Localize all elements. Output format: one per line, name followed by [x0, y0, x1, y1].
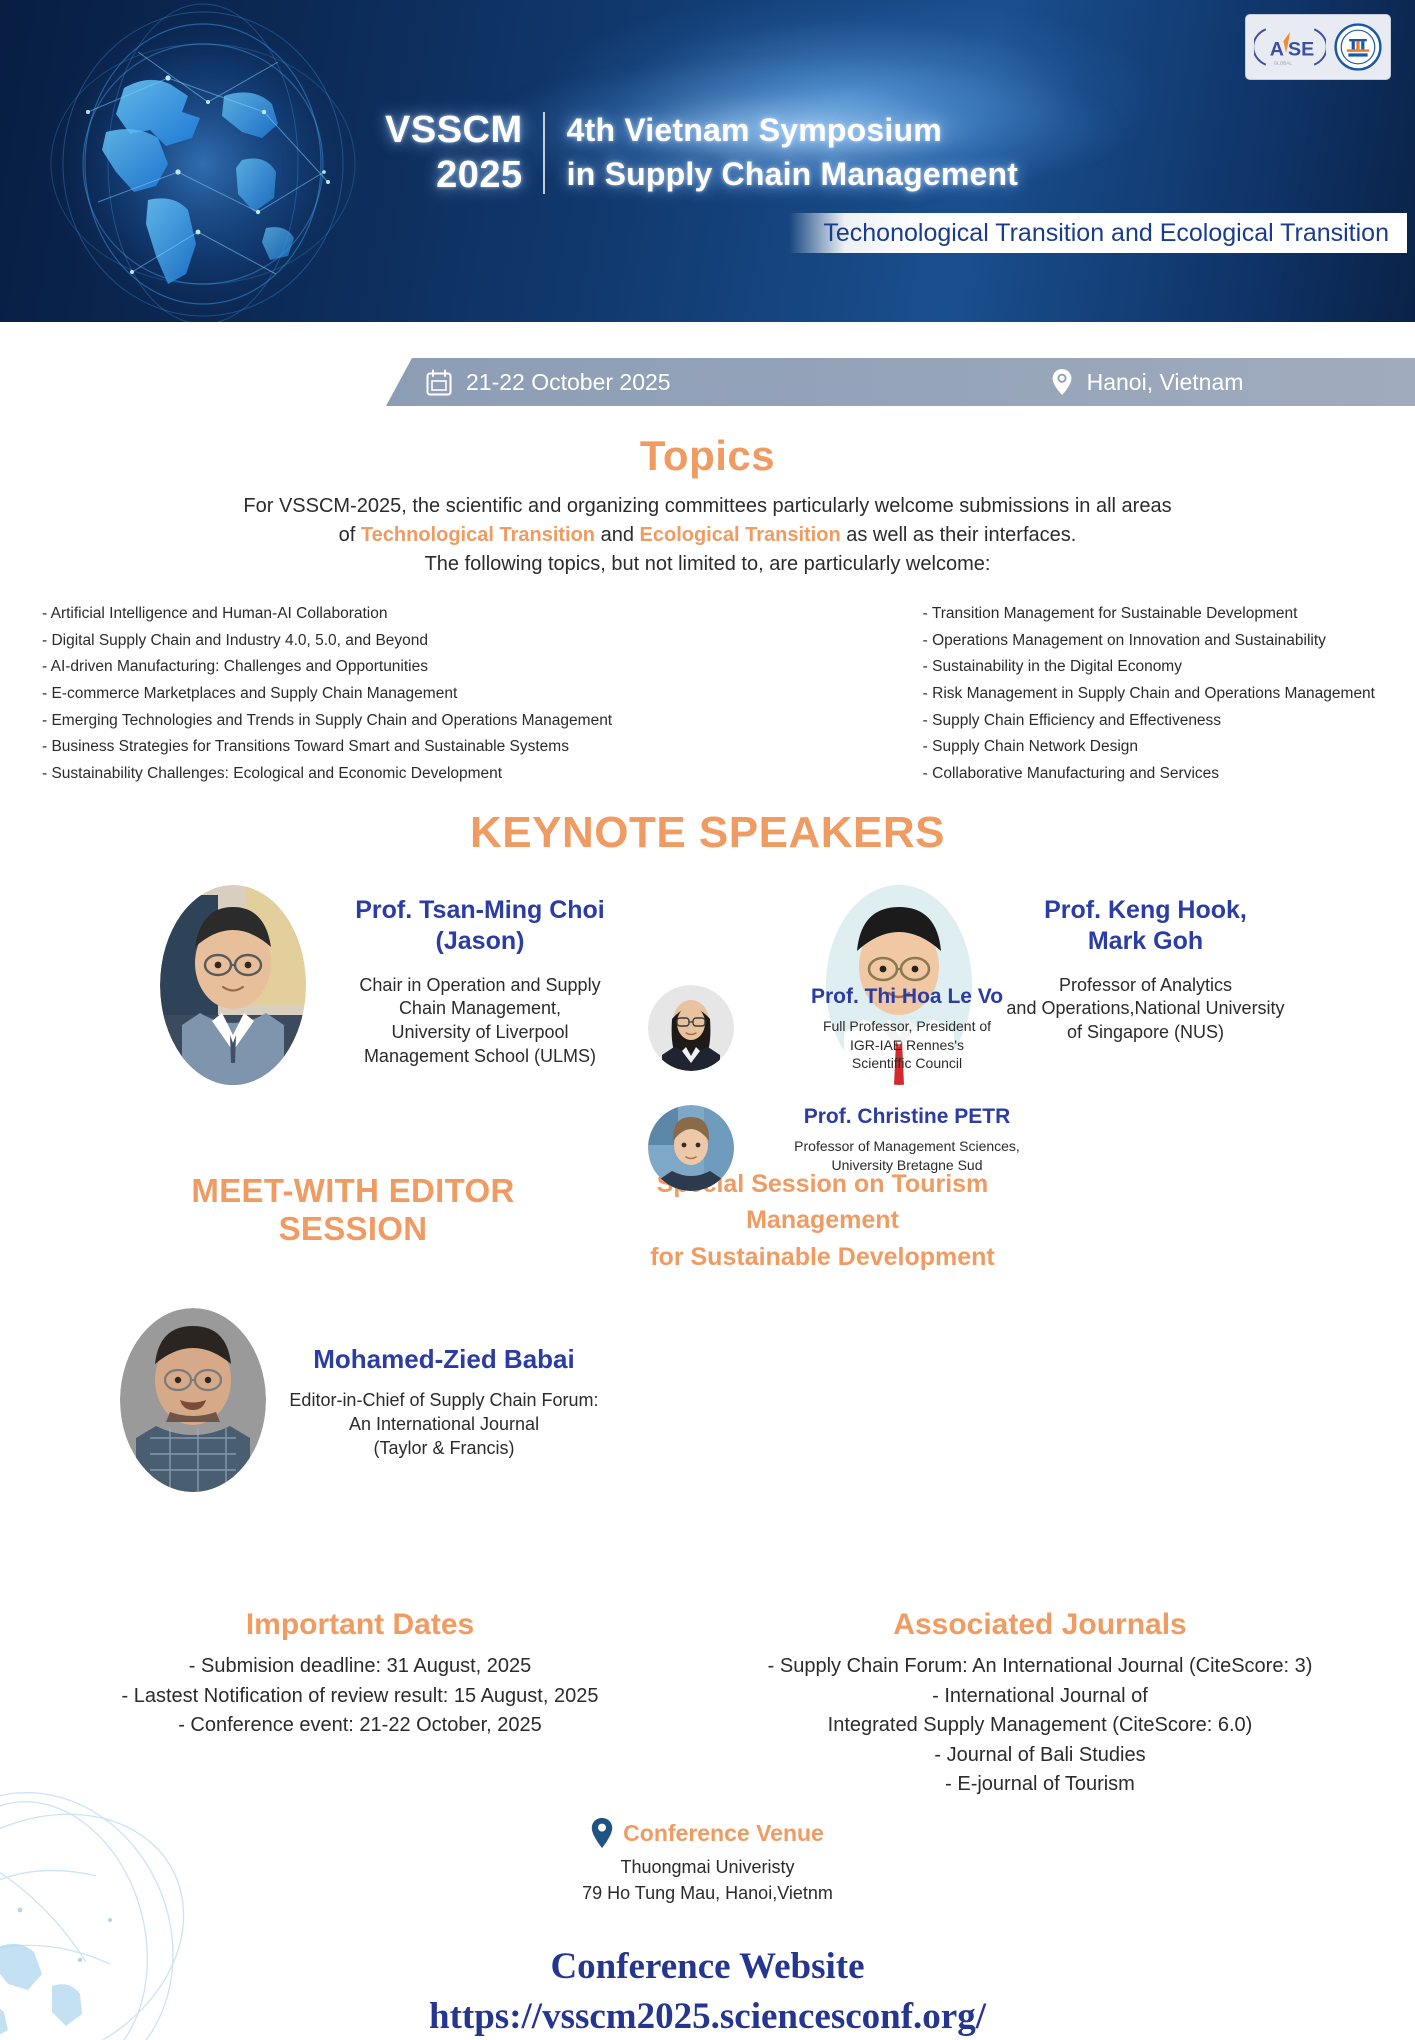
acronym-line1: VSSCM [385, 108, 523, 153]
title-block: VSSCM 2025 4th Vietnam Symposium in Supp… [385, 108, 1018, 198]
event-meta-bar: 21-22 October 2025 Hanoi, Vietnam [386, 358, 1415, 406]
intro-post: as well as their interfaces. [841, 524, 1077, 546]
tmu-logo-icon [1334, 23, 1382, 71]
event-location-text: Hanoi, Vietnam [1087, 369, 1244, 396]
topic-item: - Transition Management for Sustainable … [923, 601, 1375, 628]
editor-speaker-text: Mohamed-Zied Babai Editor-in-Chief of Su… [266, 1308, 606, 1460]
keynote-speaker-card: Prof. Tsan-Ming Choi (Jason) Chair in Op… [0, 885, 708, 1085]
important-dates-heading: Important Dates [40, 1608, 680, 1642]
speaker-name-line1: Prof. Tsan-Ming Choi [324, 895, 636, 926]
topic-item: - Supply Chain Network Design [923, 734, 1375, 761]
special-speaker-card: Prof. Thi Hoa Le Vo Full Professor, Pres… [648, 985, 1064, 1073]
topic-item: - Supply Chain Efficiency and Effectiven… [923, 708, 1375, 735]
speaker-affiliation: Editor-in-Chief of Supply Chain Forum: A… [282, 1389, 606, 1460]
special-speaker-text: Prof. Thi Hoa Le Vo Full Professor, Pres… [734, 985, 1064, 1073]
speaker-name-line2: (Jason) [324, 926, 636, 957]
globe-graphic [28, 0, 388, 322]
speaker-affiliation: Chair in Operation and Supply Chain Mana… [324, 974, 636, 1069]
topics-column-right: - Transition Management for Sustainable … [903, 601, 1375, 788]
svg-text:A: A [1270, 39, 1284, 61]
editor-session-heading: MEET-WITH EDITOR SESSION [118, 1172, 588, 1248]
avse-logo-icon: A SE GLOBAL [1254, 22, 1326, 72]
intro-hl-technological: Technological Transition [361, 524, 595, 546]
subtitle-ribbon: Techonological Transition and Ecological… [789, 213, 1407, 253]
title-line1: 4th Vietnam Symposium [567, 108, 1018, 152]
svg-text:GLOBAL: GLOBAL [1274, 61, 1293, 66]
special-heading-line2: for Sustainable Development [610, 1239, 1035, 1275]
topic-item: - Operations Management on Innovation an… [923, 628, 1375, 655]
keynote-heading: KEYNOTE SPEAKERS [0, 808, 1415, 858]
location-pin-icon [1051, 368, 1073, 396]
symposium-title: 4th Vietnam Symposium in Supply Chain Ma… [545, 108, 1018, 196]
topic-item: - Artificial Intelligence and Human-AI C… [42, 601, 612, 628]
speaker-name-line1: Prof. Keng Hook, [990, 895, 1302, 926]
speaker-name-line2: Mark Goh [990, 926, 1302, 957]
topic-item: - E-commerce Marketplaces and Supply Cha… [42, 681, 612, 708]
topics-intro: For VSSCM-2025, the scientific and organ… [0, 492, 1415, 579]
topic-item: - Sustainability in the Digital Economy [923, 654, 1375, 681]
special-speaker-text: Prof. Christine PETR Professor of Manage… [734, 1105, 1064, 1174]
topic-item: - Risk Management in Supply Chain and Op… [923, 681, 1375, 708]
topics-columns: - Artificial Intelligence and Human-AI C… [0, 601, 1415, 788]
svg-text:SE: SE [1288, 39, 1314, 61]
logo-box: A SE GLOBAL [1245, 14, 1391, 80]
special-speaker-card: Prof. Christine PETR Professor of Manage… [648, 1105, 1064, 1191]
speaker-affiliation: Full Professor, President of IGR-IAE Ren… [750, 1017, 1064, 1073]
conference-poster: A SE GLOBAL VSSCM 2025 [0, 0, 1415, 2040]
topic-item: - Sustainability Challenges: Ecological … [42, 761, 612, 788]
important-dates-list: - Submision deadline: 31 August, 2025 - … [40, 1652, 680, 1741]
topics-column-left: - Artificial Intelligence and Human-AI C… [42, 601, 612, 788]
speaker-photo-thi-hoa-le-vo [648, 985, 734, 1071]
speaker-name: Prof. Christine PETR [750, 1105, 1064, 1129]
associated-journals-list: - Supply Chain Forum: An International J… [690, 1652, 1390, 1800]
venue-pin-icon [591, 1818, 613, 1848]
topic-item: - Collaborative Manufacturing and Servic… [923, 761, 1375, 788]
topics-intro-line1: For VSSCM-2025, the scientific and organ… [0, 492, 1415, 521]
decorative-globe-graphic [0, 1770, 280, 2040]
topics-section: Topics For VSSCM-2025, the scientific an… [0, 432, 1415, 788]
header-banner: A SE GLOBAL VSSCM 2025 [0, 0, 1415, 322]
keynote-speaker-text: Prof. Tsan-Ming Choi (Jason) Chair in Op… [306, 885, 636, 1069]
topic-item: - Digital Supply Chain and Industry 4.0,… [42, 628, 612, 655]
topic-item: - AI-driven Manufacturing: Challenges an… [42, 654, 612, 681]
calendar-icon [426, 369, 452, 396]
event-location: Hanoi, Vietnam [1051, 368, 1244, 396]
title-line2: in Supply Chain Management [567, 152, 1018, 196]
topics-intro-line3: The following topics, but not limited to… [0, 550, 1415, 579]
topic-item: - Emerging Technologies and Trends in Su… [42, 708, 612, 735]
associated-journals-heading: Associated Journals [690, 1608, 1390, 1642]
acronym-block: VSSCM 2025 [385, 108, 543, 198]
topic-item: - Business Strategies for Transitions To… [42, 734, 612, 761]
speaker-affiliation: Professor of Management Sciences, Univer… [750, 1137, 1064, 1174]
speaker-photo-christine-petr [648, 1105, 734, 1191]
editor-speaker-card: Mohamed-Zied Babai Editor-in-Chief of Su… [120, 1308, 606, 1493]
event-date: 21-22 October 2025 [426, 369, 671, 396]
event-date-text: 21-22 October 2025 [466, 369, 671, 396]
intro-pre: of [339, 524, 361, 546]
acronym-line2: 2025 [385, 153, 523, 198]
speaker-photo-mohamed-zied-babai [120, 1308, 266, 1493]
speaker-name: Mohamed-Zied Babai [282, 1344, 606, 1375]
speaker-name: Prof. Thi Hoa Le Vo [750, 985, 1064, 1009]
topics-intro-line2: of Technological Transition and Ecologic… [0, 521, 1415, 550]
speaker-photo-tsan-ming-choi [160, 885, 306, 1085]
topics-heading: Topics [0, 432, 1415, 480]
intro-hl-ecological: Ecological Transition [640, 524, 841, 546]
intro-mid: and [595, 524, 639, 546]
conference-venue-title: Conference Venue [623, 1820, 824, 1847]
